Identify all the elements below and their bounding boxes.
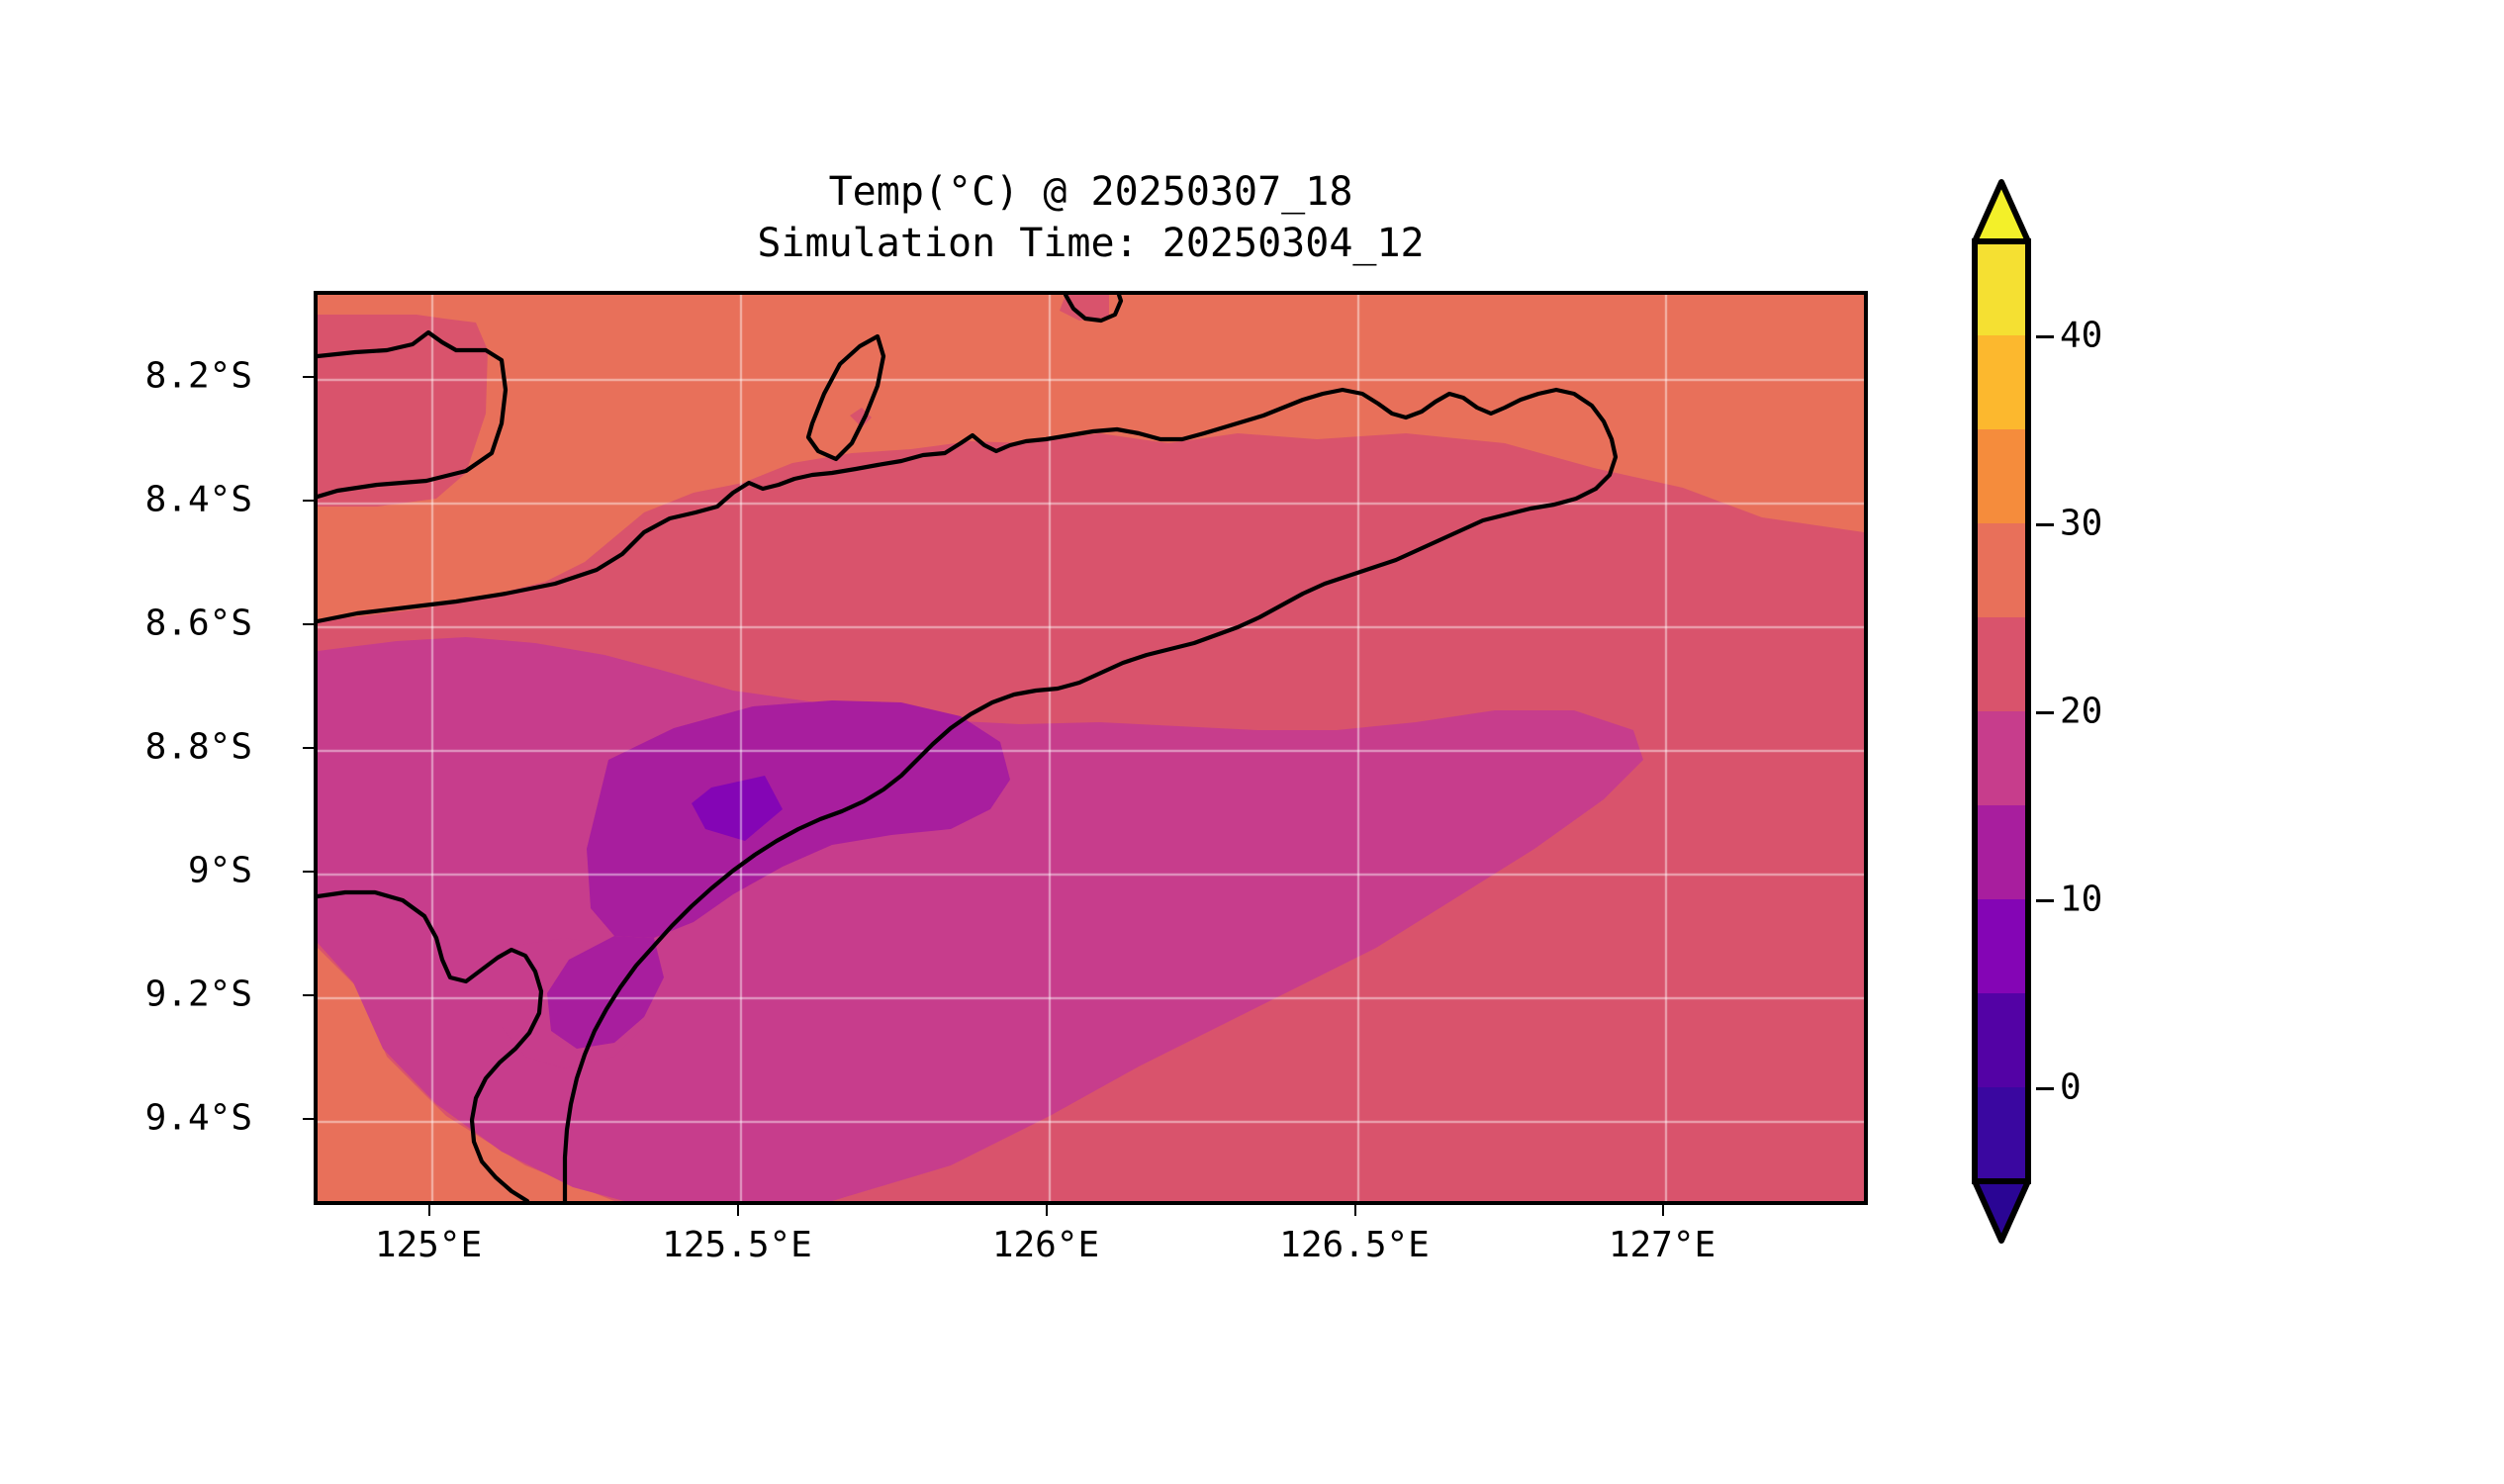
colorbar-over-arrow bbox=[1975, 182, 2028, 241]
ytick-mark-9-0 bbox=[303, 871, 314, 873]
xtick-mark-127 bbox=[1662, 1205, 1664, 1216]
map-axes[interactable] bbox=[314, 291, 1868, 1205]
colorbar-tick-label-0: 0 bbox=[2060, 1067, 2082, 1108]
ytick-label-9-0: 9°S bbox=[188, 851, 252, 891]
temperature-map bbox=[318, 295, 1864, 1201]
xtick-label-125-5: 125.5°E bbox=[662, 1225, 812, 1265]
colorbar[interactable] bbox=[1969, 176, 2034, 1247]
ytick-label-8-6: 8.6°S bbox=[145, 603, 252, 644]
temperature-contour-figure: Temp(°C) @ 20250307_18 Simulation Time: … bbox=[0, 0, 2504, 1484]
colorbar-band-10-15 bbox=[1975, 805, 2028, 899]
colorbar-tick-mark-30 bbox=[2036, 523, 2054, 526]
ytick-mark-8-4 bbox=[303, 500, 314, 502]
ytick-label-8-2: 8.2°S bbox=[145, 356, 252, 397]
page-title: Temp(°C) @ 20250307_18 Simulation Time: … bbox=[314, 166, 1868, 269]
colorbar-tick-label-10: 10 bbox=[2060, 880, 2102, 920]
colorbar-tick-label-20: 20 bbox=[2060, 692, 2102, 732]
colorbar-under-arrow bbox=[1975, 1181, 2028, 1241]
ytick-label-9-4: 9.4°S bbox=[145, 1098, 252, 1139]
ytick-mark-9-4 bbox=[303, 1118, 314, 1120]
ytick-mark-8-2 bbox=[303, 376, 314, 378]
colorbar-band-20-25 bbox=[1975, 617, 2028, 711]
colorbar-band-15-20 bbox=[1975, 711, 2028, 805]
xtick-label-126-5: 126.5°E bbox=[1279, 1225, 1430, 1265]
xtick-label-126: 126°E bbox=[992, 1225, 1099, 1265]
colorbar-band-5-10 bbox=[1975, 899, 2028, 993]
xtick-label-127: 127°E bbox=[1609, 1225, 1716, 1265]
xtick-mark-125-5 bbox=[737, 1205, 739, 1216]
colorbar-band-minus5-0 bbox=[1975, 1087, 2028, 1181]
colorbar-band-35-40 bbox=[1975, 335, 2028, 429]
ytick-label-8-8: 8.8°S bbox=[145, 727, 252, 768]
ytick-label-9-2: 9.2°S bbox=[145, 974, 252, 1015]
xtick-mark-126-5 bbox=[1354, 1205, 1356, 1216]
colorbar-tick-mark-40 bbox=[2036, 335, 2054, 338]
xtick-label-125: 125°E bbox=[375, 1225, 482, 1265]
colorbar-band-40-45 bbox=[1975, 241, 2028, 335]
colorbar-tick-mark-0 bbox=[2036, 1087, 2054, 1090]
ytick-mark-8-6 bbox=[303, 623, 314, 625]
colorbar-band-0-5 bbox=[1975, 993, 2028, 1087]
colorbar-band-25-30 bbox=[1975, 523, 2028, 617]
colorbar-band-30-35 bbox=[1975, 429, 2028, 523]
ytick-mark-8-8 bbox=[303, 747, 314, 749]
xtick-mark-126 bbox=[1046, 1205, 1048, 1216]
colorbar-tick-mark-20 bbox=[2036, 711, 2054, 714]
title-line-1: Temp(°C) @ 20250307_18 bbox=[314, 166, 1868, 218]
colorbar-svg bbox=[1969, 176, 2034, 1247]
colorbar-tick-label-30: 30 bbox=[2060, 504, 2102, 544]
colorbar-tick-mark-10 bbox=[2036, 899, 2054, 902]
title-line-2: Simulation Time: 20250304_12 bbox=[314, 218, 1868, 269]
ytick-label-8-4: 8.4°S bbox=[145, 480, 252, 520]
ytick-mark-9-2 bbox=[303, 994, 314, 996]
xtick-mark-125 bbox=[428, 1205, 430, 1216]
colorbar-tick-label-40: 40 bbox=[2060, 316, 2102, 356]
